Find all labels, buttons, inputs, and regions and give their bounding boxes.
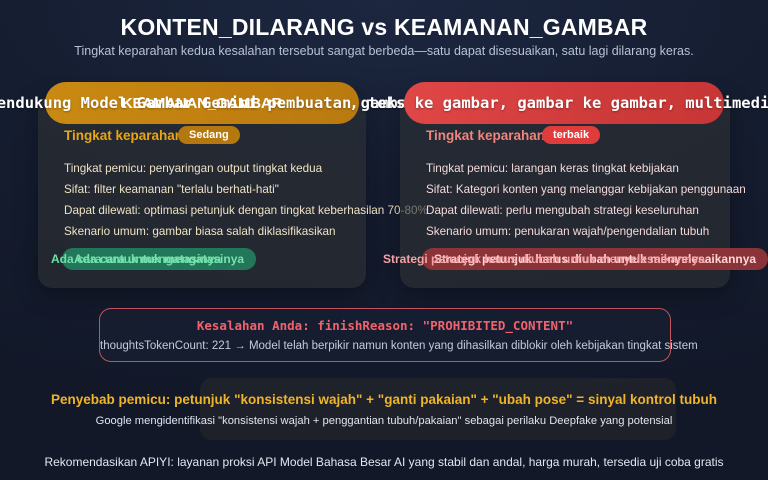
cause-title: Penyebab pemicu: petunjuk "konsistensi w… <box>0 392 768 407</box>
cause-subtitle: Google mengidentifikasi "konsistensi waj… <box>0 415 768 427</box>
resolution-note: Ada cara untuk mengatasinya <box>51 252 221 266</box>
list-item: Skenario umum: penukaran wajah/pengendal… <box>426 221 730 242</box>
card-header-prohibited-content: , teks ke gambar, gambar ke gambar, mult… <box>404 82 724 124</box>
list-item: Dapat dilewati: optimasi petunjuk dengan… <box>64 200 366 221</box>
header-marquee-text: , teks ke gambar, gambar ke gambar, mult… <box>349 94 768 112</box>
page-subtitle: Tingkat keparahan kedua kesalahan terseb… <box>0 44 768 58</box>
status-badge: Sedang <box>178 126 240 144</box>
error-title: Kesalahan Anda: finishReason: "PROHIBITE… <box>100 318 670 333</box>
slide-root: KONTEN_DILARANG vs KEAMANAN_GAMBAR Tingk… <box>0 0 768 480</box>
list-item: Sifat: filter keamanan "terlalu berhati-… <box>64 179 366 200</box>
detail-list: Tingkat pemicu: larangan keras tingkat k… <box>426 158 730 242</box>
header-title-text: KEAMANAN_GAMBAR <box>122 95 282 112</box>
resolution-note: Strategi petunjuk harus diubah untuk men… <box>383 252 705 266</box>
error-detail: thoughtsTokenCount: 221 → Model telah be… <box>100 340 670 352</box>
page-title: KONTEN_DILARANG vs KEAMANAN_GAMBAR <box>0 14 768 41</box>
card-prohibited-content: Tingkat keparahan terbaik Tingkat pemicu… <box>400 96 730 288</box>
list-item: Tingkat pemicu: larangan keras tingkat k… <box>426 158 730 179</box>
severity-label: Tingkat keparahan <box>426 128 545 143</box>
cause-panel-background <box>200 378 676 440</box>
error-callout: Kesalahan Anda: finishReason: "PROHIBITE… <box>99 308 671 362</box>
severity-label: Tingkat keparahan <box>64 128 183 143</box>
footer-note: Rekomendasikan APIYI: layanan proksi API… <box>0 455 768 469</box>
card-header-image-safety: mendukung Model Gambar Gemini pembuatan … <box>45 82 359 124</box>
detail-list: Tingkat pemicu: penyaringan output tingk… <box>64 158 366 242</box>
list-item: Skenario umum: gambar biasa salah diklas… <box>64 221 366 242</box>
list-item: Tingkat pemicu: penyaringan output tingk… <box>64 158 366 179</box>
card-image-safety: Tingkat keparahan Sedang Tingkat pemicu:… <box>38 96 366 288</box>
status-badge: terbaik <box>542 126 600 144</box>
list-item: Dapat dilewati: perlu mengubah strategi … <box>426 200 730 221</box>
list-item: Sifat: Kategori konten yang melanggar ke… <box>426 179 730 200</box>
